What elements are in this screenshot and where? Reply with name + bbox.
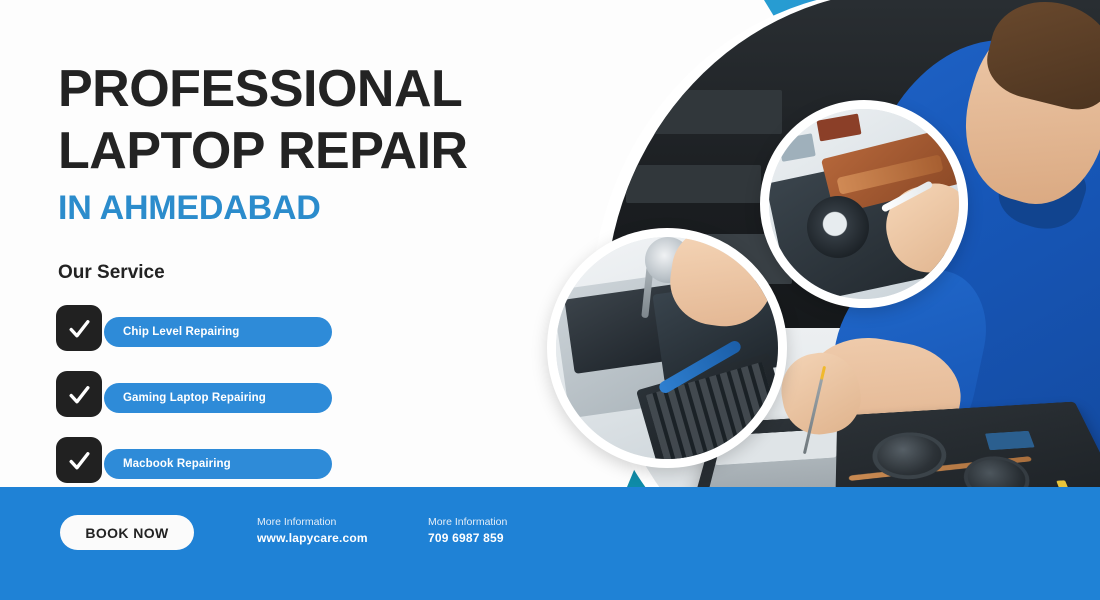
contact-phone[interactable]: More Information 709 6987 859 (428, 515, 507, 547)
services-list: Chip Level Repairing Gaming Laptop Repai… (56, 305, 346, 503)
headline-line-1: PROFESSIONAL (58, 58, 528, 120)
headline-line-2: LAPTOP REPAIR (58, 120, 528, 182)
photo-shelf (626, 165, 761, 203)
services-heading: Our Service (58, 262, 165, 284)
contact-website[interactable]: More Information www.lapycare.com (257, 515, 368, 547)
list-item[interactable]: Gaming Laptop Repairing (56, 371, 346, 427)
service-pill[interactable]: Gaming Laptop Repairing (104, 383, 332, 413)
check-icon (56, 371, 102, 417)
contact-label: More Information (257, 515, 368, 530)
book-now-button[interactable]: BOOK NOW (60, 515, 194, 550)
photo-shelf (626, 90, 782, 134)
service-label: Gaming Laptop Repairing (104, 392, 266, 404)
circle-photo-battery-repair-inner (556, 237, 778, 459)
check-icon (56, 305, 102, 351)
service-pill[interactable]: Chip Level Repairing (104, 317, 332, 347)
circle-photo-fan-repair (760, 100, 968, 308)
circle-photo-fan-repair-inner (769, 109, 959, 299)
laptop-repair-banner: PROFESSIONAL LAPTOP REPAIR IN AHMEDABAD … (0, 0, 1100, 600)
left-content-panel: PROFESSIONAL LAPTOP REPAIR IN AHMEDABAD … (0, 0, 560, 487)
check-icon (56, 437, 102, 483)
list-item[interactable]: Chip Level Repairing (56, 305, 346, 361)
photo-laptop-chip (984, 430, 1035, 450)
list-item[interactable]: Macbook Repairing (56, 437, 346, 493)
contact-label: More Information (428, 515, 507, 530)
contact-value[interactable]: 709 6987 859 (428, 530, 507, 547)
service-pill[interactable]: Macbook Repairing (104, 449, 332, 479)
circle-photo-battery-repair (547, 228, 787, 468)
contact-value[interactable]: www.lapycare.com (257, 530, 368, 547)
service-label: Macbook Repairing (104, 458, 231, 470)
page-title: PROFESSIONAL LAPTOP REPAIR IN AHMEDABAD (58, 58, 528, 232)
headline-line-3: IN AHMEDABAD (58, 184, 528, 232)
service-label: Chip Level Repairing (104, 326, 239, 338)
circle1-cooling-fan (807, 196, 869, 258)
